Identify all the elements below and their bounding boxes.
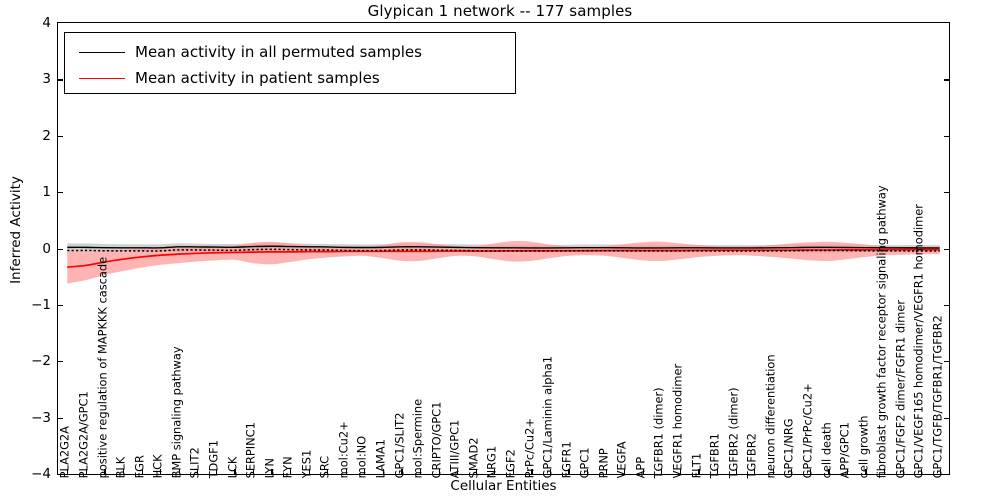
x-tick-label: FGF2 <box>506 449 517 478</box>
x-tick-label: cell growth <box>858 415 869 478</box>
x-tick-label: ATIII/GPC1 <box>450 419 461 478</box>
x-tick-label: HCK <box>153 454 164 478</box>
x-tick-label: GPC1/SLIT2 <box>394 412 405 478</box>
x-tick-label: FLT1 <box>691 452 702 478</box>
x-tick-label: TGFBR1 (dimer) <box>654 387 665 478</box>
legend-label-permuted: Mean activity in all permuted samples <box>135 43 422 61</box>
x-tick-label: LAMA1 <box>376 439 387 478</box>
x-tick-label: NRG1 <box>487 445 498 478</box>
x-tick-label: GPC1/VEGF165 homodimer/VEGFR1 homodimer <box>914 204 925 478</box>
x-tick-label: FGR <box>134 455 145 478</box>
x-tick-label: APP <box>636 456 647 478</box>
x-tick-label: mol:NO <box>357 435 368 478</box>
x-tick-label: SLIT2 <box>190 447 201 478</box>
x-tick-label: TGFBR2 (dimer) <box>728 387 739 478</box>
x-tick-label: APP/GPC1 <box>840 422 851 478</box>
x-tick-label: FYN <box>283 456 294 478</box>
x-tick-label: fibroblast growth factor receptor signal… <box>877 185 888 478</box>
x-tick-label: SMAD2 <box>468 437 479 478</box>
x-tick-label: GPC1/PrPc/Cu2+ <box>803 383 814 478</box>
x-tick-label: YES1 <box>301 449 312 478</box>
x-tick-label: neuron differentiation <box>765 354 776 478</box>
legend-item-permuted: Mean activity in all permuted samples <box>65 39 515 65</box>
x-tick-label: CRIPTO/GPC1 <box>431 401 442 478</box>
x-tick-label: GPC1/NRG <box>784 418 795 478</box>
x-tick-label: TGFBR1 <box>710 433 721 478</box>
legend-item-patient: Mean activity in patient samples <box>65 65 515 91</box>
x-tick-label: positive regulation of MAPKKK cascade <box>97 256 108 478</box>
x-tick-label: VEGFR1 homodimer <box>673 363 684 478</box>
legend-label-patient: Mean activity in patient samples <box>135 69 380 87</box>
x-tick-label: cell death <box>821 422 832 478</box>
x-tick-label: FGFR1 <box>561 441 572 478</box>
x-tick-label: BMP signaling pathway <box>171 346 182 478</box>
chart-figure: Glypican 1 network -- 177 samples 43210−… <box>0 0 1000 500</box>
x-tick-label: SRC <box>320 455 331 478</box>
x-tick-label: TGFBR2 <box>747 433 758 478</box>
x-tick-label: BLK <box>116 456 127 478</box>
x-tick-label: GPC1 <box>580 447 591 478</box>
legend-swatch-permuted <box>79 52 125 53</box>
x-tick-label: PLA2G2A <box>60 426 71 478</box>
x-tick-label: mol:Cu2+ <box>339 421 350 478</box>
x-tick-label: SERPINC1 <box>246 422 257 478</box>
x-tick-label: TDGF1 <box>209 440 220 478</box>
x-tick-label: GPC1/TGFB/TGFBR1/TGFBR2 <box>933 315 944 478</box>
x-tick-label: PRNP <box>598 448 609 478</box>
x-tick-label: VEGFA <box>617 441 628 478</box>
legend-swatch-patient <box>79 78 125 79</box>
legend: Mean activity in all permuted samples Me… <box>64 32 516 94</box>
x-tick-label: GPC1/Laminin alpha1 <box>543 356 554 478</box>
x-tick-label: LCK <box>227 456 238 478</box>
x-tick-label: LYN <box>264 458 275 478</box>
x-tick-label: GPC1/FGF2 dimer/FGFR1 dimer <box>895 300 906 478</box>
x-tick-label: PLA2G2A/GPC1 <box>79 391 90 478</box>
x-axis-label: Cellular Entities <box>57 478 950 494</box>
x-tick-label: PrPc/Cu2+ <box>524 418 535 478</box>
x-tick-label: mol:Spermine <box>413 398 424 478</box>
